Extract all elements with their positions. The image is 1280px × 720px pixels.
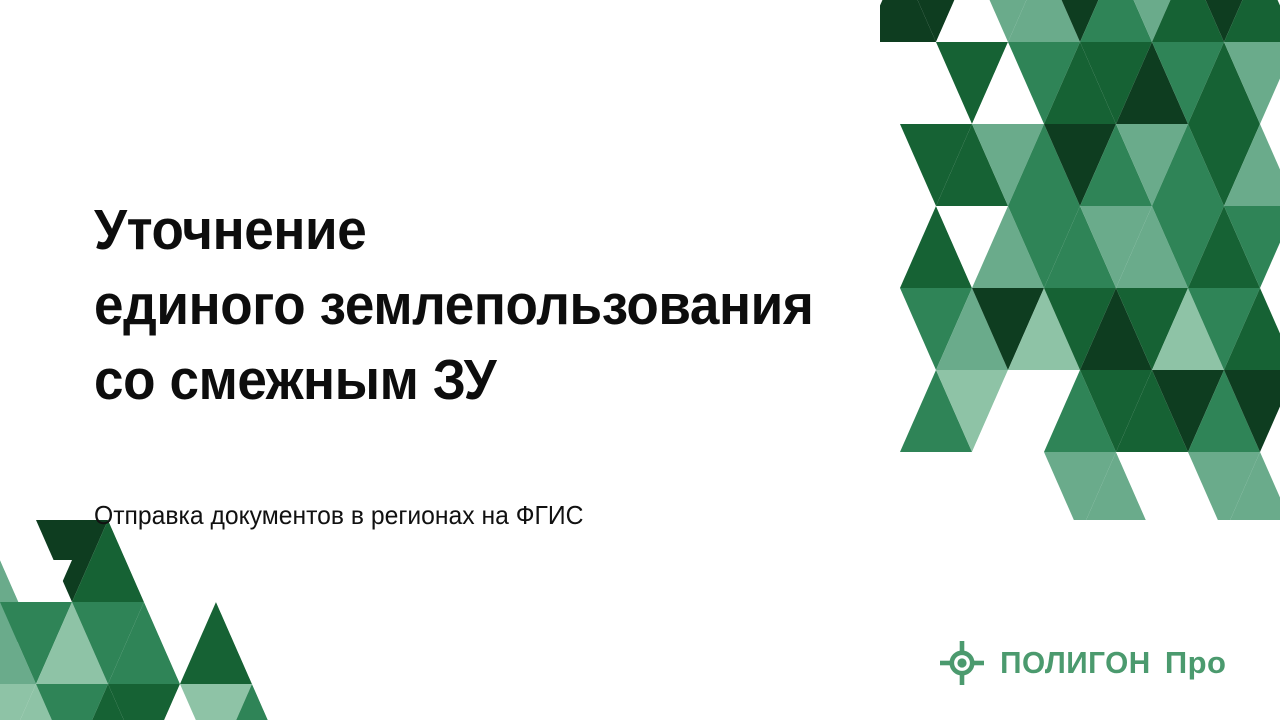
crosshair-target-icon — [938, 639, 986, 687]
title-block: Уточнение единого землепользования со см… — [94, 193, 994, 419]
page-title: Уточнение единого землепользования со см… — [94, 193, 931, 419]
page-subtitle: Отправка документов в регионах на ФГИС — [94, 500, 583, 531]
brand-logo: ПОЛИГОН Про — [938, 639, 1226, 687]
triangle-group-bottom — [0, 520, 340, 720]
triangle-pattern-svg-bottom — [0, 520, 340, 720]
logo-word-poligon: ПОЛИГОН — [1000, 645, 1151, 681]
decorative-triangle-pattern-bottom-left — [0, 520, 340, 720]
crosshair-center-dot — [957, 658, 966, 667]
logo-wordmark: ПОЛИГОН Про — [997, 645, 1226, 681]
slide-canvas: Уточнение единого землепользования со см… — [0, 0, 1280, 720]
logo-word-pro: Про — [1165, 645, 1227, 681]
